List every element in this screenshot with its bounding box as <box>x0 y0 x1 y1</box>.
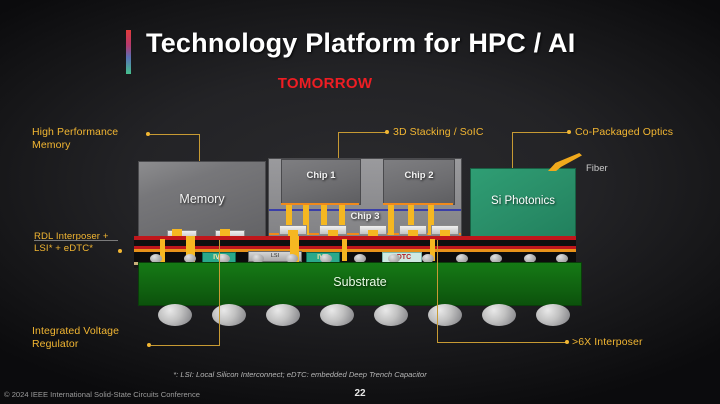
title-accent-bar <box>126 30 131 74</box>
chip1-label: Chip 1 <box>282 170 360 181</box>
chip1-bond-layer <box>281 203 359 205</box>
callout-rdl-interposer: RDL Interposer + LSI* + eDTC* <box>34 231 109 255</box>
callout-cpo-leader-v <box>512 132 513 170</box>
callout-ivr-leader-v <box>219 240 220 345</box>
chip2-label: Chip 2 <box>384 170 454 181</box>
slide-subtitle-text: TOMORROW <box>278 75 373 92</box>
callout-interposer-dot <box>565 340 569 344</box>
si-photonics-die: Si Photonics <box>470 168 576 238</box>
callout-co-packaged-optics: Co-Packaged Optics <box>575 126 673 139</box>
substrate-label: Substrate <box>139 275 581 289</box>
callout-rdl-leader <box>34 240 118 241</box>
callout-ivr-leader-h <box>151 345 220 346</box>
tsv-pillar <box>388 205 394 235</box>
callout-cpo-dot <box>567 130 571 134</box>
bga-ball <box>158 304 192 326</box>
si-photonics-label: Si Photonics <box>471 195 575 207</box>
footnote-text: *: LSI: Local Silicon Interconnect; eDTC… <box>173 370 427 379</box>
package-substrate: Substrate <box>138 262 582 306</box>
callout-interposer-leader-h <box>437 342 567 343</box>
callout-high-performance-memory: High Performance Memory <box>32 126 118 152</box>
bga-ball <box>428 304 462 326</box>
callout-hpm-leader-v <box>199 134 200 162</box>
bga-ball <box>482 304 516 326</box>
slide-subtitle: TOMORROW <box>0 75 720 92</box>
callout-rdl-dot <box>118 249 122 253</box>
soic-stack: Chip 1 Chip 2 Chip 3 <box>268 158 462 238</box>
bga-ball <box>212 304 246 326</box>
bga-ball <box>536 304 570 326</box>
chip2-die: Chip 2 <box>383 159 455 205</box>
bga-ball <box>374 304 408 326</box>
callout-soic-leader-v <box>338 132 339 160</box>
callout-soic-dot <box>385 130 389 134</box>
chip1-die: Chip 1 <box>281 159 361 205</box>
footnote: *: LSI: Local Silicon Interconnect; eDTC… <box>0 370 720 379</box>
page-title: Technology Platform for HPC / AI <box>146 28 575 59</box>
callout-interposer-leader-v <box>437 240 438 342</box>
bga-ball <box>266 304 300 326</box>
callout-hpm-leader-h <box>150 134 200 135</box>
bga-ball <box>320 304 354 326</box>
callout-3d-stacking: 3D Stacking / SoIC <box>393 126 484 139</box>
slide-canvas: Technology Platform for HPC / AI TOMORRO… <box>0 0 720 404</box>
callout-6x-interposer: >6X Interposer <box>572 336 643 349</box>
callout-integrated-voltage-regulator: Integrated Voltage Regulator <box>32 325 119 351</box>
interposer-via <box>342 239 347 261</box>
callout-cpo-leader-h <box>512 132 568 133</box>
memory-die-label: Memory <box>139 192 265 206</box>
fiber-label: Fiber <box>586 163 608 174</box>
page-number: 22 <box>0 388 720 399</box>
memory-die: Memory <box>138 161 266 238</box>
callout-soic-leader-h <box>338 132 386 133</box>
